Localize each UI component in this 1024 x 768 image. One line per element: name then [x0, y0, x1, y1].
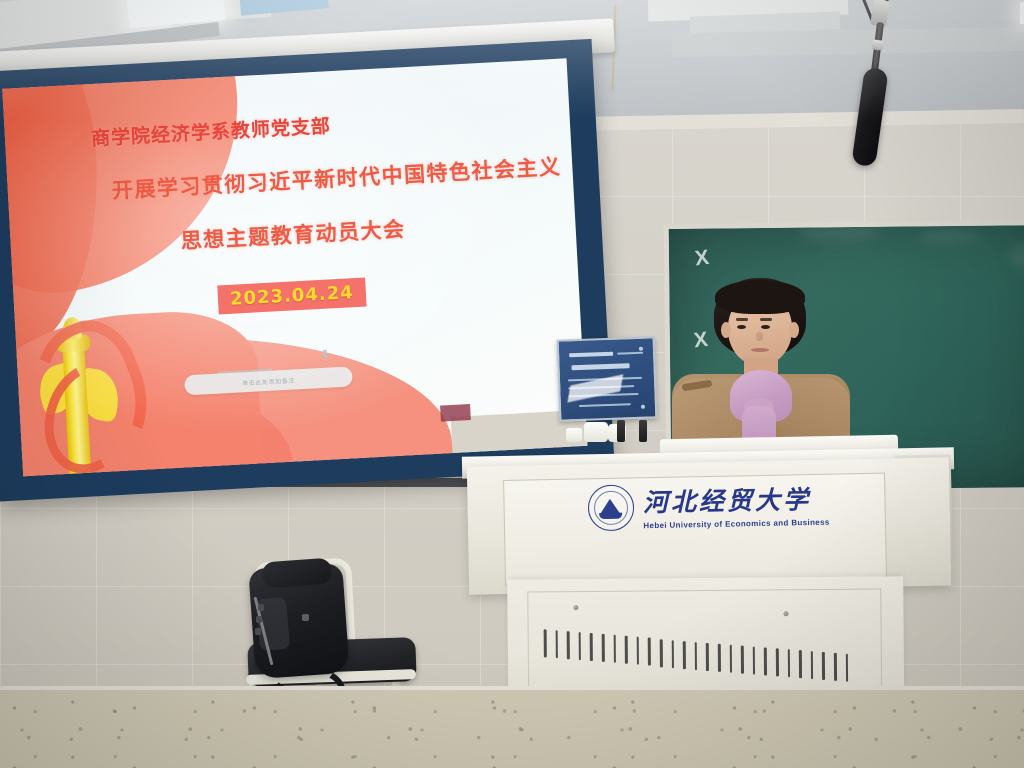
podium-vent-slit [555, 630, 558, 658]
backpack-buckle [258, 604, 264, 611]
chalk-smudge [919, 230, 979, 245]
podium-vent-slit [706, 643, 709, 671]
seal-book-shape [599, 512, 622, 518]
screw-icon [783, 611, 788, 616]
speaker-person [652, 278, 868, 458]
eye [761, 325, 770, 329]
backpack-buckle [255, 628, 261, 635]
podium-vent-slit [683, 641, 686, 669]
podium-vent-slit [811, 651, 814, 679]
backpack-buckle [256, 616, 262, 623]
projection-screen: 商学院经济学系教师党支部 开展学习贯彻习近平新时代中国特色社会主义 思想主题教育… [0, 39, 615, 502]
mic-clamp-ring [871, 39, 883, 50]
chalk-smudge [799, 223, 879, 242]
podium-vent-slit [799, 650, 802, 678]
podium-vent-row [544, 627, 864, 666]
podium-vent-slit [776, 648, 779, 676]
podium-vent-slit [845, 654, 848, 682]
podium-vent-slit [695, 642, 698, 670]
eye [737, 325, 746, 329]
plaque-heading [569, 352, 613, 358]
podium-vent-slit [718, 644, 721, 672]
podium-vent-slit [544, 629, 547, 657]
podium-vent-slit [660, 639, 663, 667]
ear [789, 322, 799, 338]
plaque-corner-dot [641, 405, 645, 409]
presentation-slide: 商学院经济学系教师党支部 开展学习贯彻习近平新时代中国特色社会主义 思想主题教育… [2, 58, 587, 476]
skylight-light [1020, 2, 1024, 24]
marker[interactable] [639, 420, 647, 442]
plaque-heading-sub [617, 352, 643, 355]
cup[interactable] [566, 428, 582, 442]
slide-notes-placeholder-text: 单击此处添加备注 [242, 375, 295, 387]
podium-vent-slit [834, 653, 837, 681]
chalk-mark-x: X [694, 246, 711, 271]
podium-vent-slit [741, 646, 744, 674]
eyebrow [760, 318, 772, 321]
podium-vent-slit [787, 649, 790, 677]
podium-vent-slit [567, 631, 570, 659]
podium-vent-slit [764, 647, 767, 675]
backpack-logo [302, 614, 309, 621]
hair-fringe [715, 280, 805, 314]
classroom-meeting-photo: MITSUBISHI 商学院经济学系教 [0, 0, 1024, 768]
eyebrow [736, 318, 748, 321]
chalk-smudge [1009, 243, 1024, 269]
podium-vent-slit [625, 636, 628, 664]
mouth [751, 348, 769, 352]
floor [0, 690, 1024, 768]
podium-vent-slit [578, 632, 581, 660]
cup[interactable] [584, 422, 608, 442]
podium-vent-slit [636, 637, 639, 665]
plaque-subheading [571, 363, 629, 370]
podium-vent-slit [613, 635, 616, 663]
plaque-text-line [579, 403, 631, 407]
screw-icon [573, 605, 578, 610]
podium-vent-slit [602, 634, 605, 662]
marker[interactable] [617, 420, 625, 442]
text-cursor-icon [323, 350, 327, 359]
university-name-cn: 河北经贸大学 [643, 480, 830, 520]
university-seal-icon [588, 484, 635, 531]
wall-information-plaque [557, 336, 658, 421]
university-logo: 河北经贸大学 Hebei University of Economics and… [588, 480, 830, 532]
backpack-top-flap [261, 558, 333, 589]
podium-vent-slit [822, 652, 825, 680]
seal-mountain-shape [600, 498, 620, 513]
podium-vent-slit [648, 638, 651, 666]
podium-vent-slit [671, 640, 674, 668]
university-name-block: 河北经贸大学 Hebei University of Economics and… [643, 480, 830, 531]
plaque-corner-dot [639, 347, 643, 351]
podium-vent-slit [729, 645, 732, 673]
nose [756, 332, 763, 341]
ear [721, 322, 731, 338]
podium-vent-slit [590, 633, 593, 661]
podium-vent-slit [753, 646, 756, 674]
